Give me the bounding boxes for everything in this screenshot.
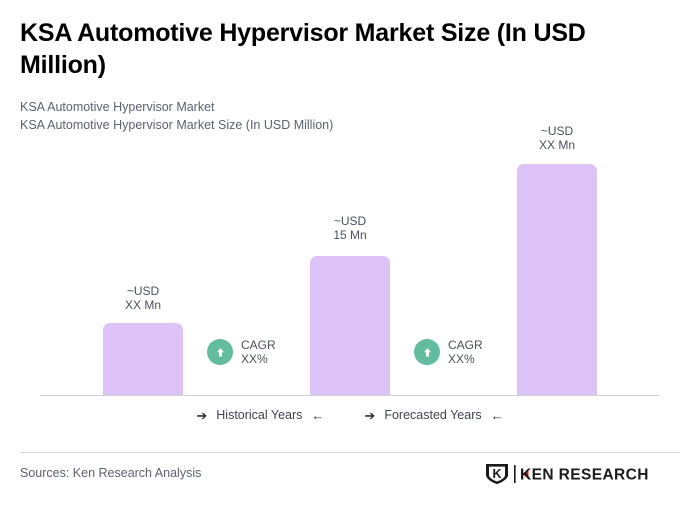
cagr-label-historical: CAGR XX% — [241, 338, 276, 366]
plot-area: ~USD XX Mn ~USD 15 Mn ~USD XX Mn CAGR — [0, 0, 700, 440]
arrow-up-icon — [207, 339, 233, 365]
bar-value-label-1: ~USD XX Mn — [103, 284, 183, 312]
period-historical-label: Historical Years — [216, 408, 302, 422]
bar-3[interactable] — [517, 164, 597, 396]
cagr-badge-forecast[interactable]: CAGR XX% — [414, 338, 483, 366]
bar-value-label-3: ~USD XX Mn — [517, 124, 597, 152]
arrow-up-icon — [414, 339, 440, 365]
bar-value-label-2-line1: ~USD — [310, 214, 390, 228]
svg-text:K: K — [492, 467, 501, 481]
bar-value-label-2-line2: 15 Mn — [310, 228, 390, 242]
bar-value-label-3-line2: XX Mn — [517, 138, 597, 152]
arrow-right-icon: ➔ — [364, 409, 375, 422]
cagr-label-historical-line2: XX% — [241, 352, 276, 366]
arrow-left-icon: ← — [311, 409, 324, 422]
bar-value-label-1-line2: XX Mn — [103, 298, 183, 312]
cagr-label-forecast-line2: XX% — [448, 352, 483, 366]
bar-value-label-3-line1: ~USD — [517, 124, 597, 138]
period-forecast-label: Forecasted Years — [384, 408, 481, 422]
period-legend: ➔ Historical Years ← ➔ Forecasted Years … — [0, 408, 700, 422]
ken-research-logo: K KEN RESEARCH — [484, 463, 656, 485]
bar-value-label-1-line1: ~USD — [103, 284, 183, 298]
bar-2[interactable] — [310, 256, 390, 396]
footer-divider — [20, 452, 680, 453]
sources-text: Sources: Ken Research Analysis — [20, 466, 201, 480]
arrow-right-icon: ➔ — [196, 409, 207, 422]
period-historical: ➔ Historical Years ← — [196, 408, 324, 422]
cagr-label-historical-line1: CAGR — [241, 338, 276, 352]
chart-page: KSA Automotive Hypervisor Market Size (I… — [0, 0, 700, 520]
arrow-left-icon: ← — [491, 409, 504, 422]
x-axis-baseline — [40, 395, 660, 396]
svg-text:KEN RESEARCH: KEN RESEARCH — [520, 466, 649, 483]
period-forecast: ➔ Forecasted Years ← — [364, 408, 503, 422]
cagr-label-forecast-line1: CAGR — [448, 338, 483, 352]
cagr-badge-historical[interactable]: CAGR XX% — [207, 338, 276, 366]
bar-1[interactable] — [103, 323, 183, 396]
bar-value-label-2: ~USD 15 Mn — [310, 214, 390, 242]
cagr-label-forecast: CAGR XX% — [448, 338, 483, 366]
